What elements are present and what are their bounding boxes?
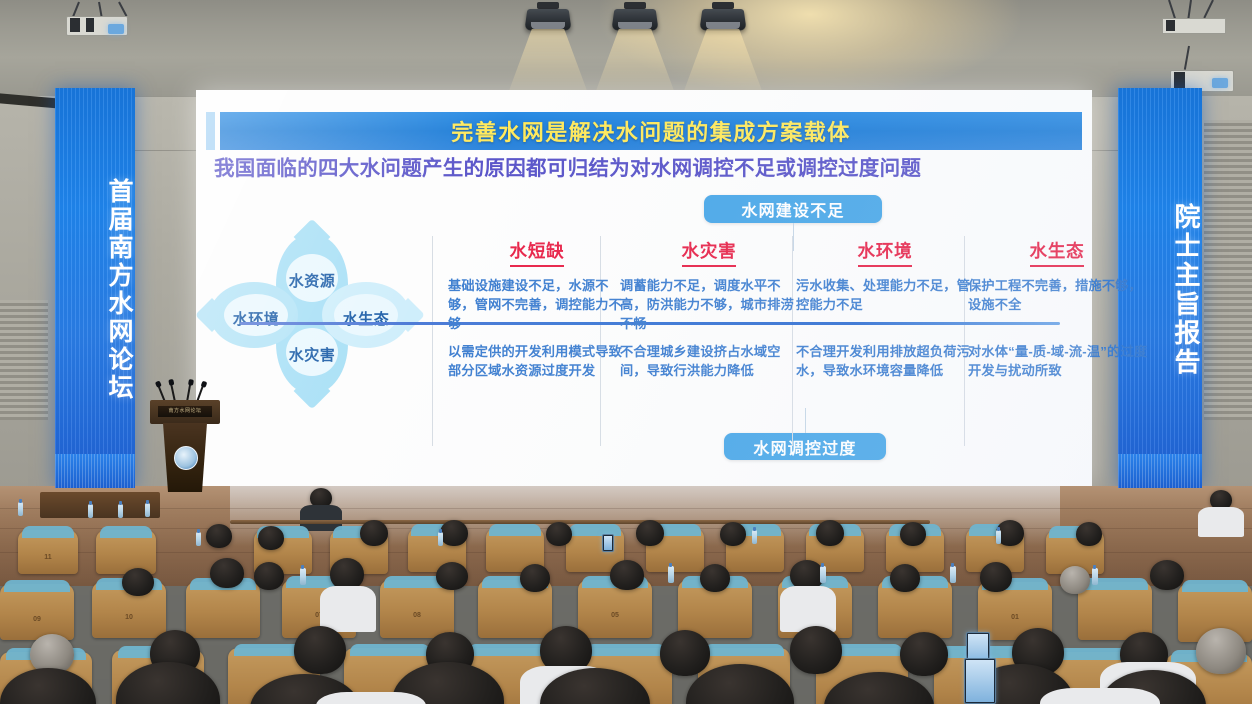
audience-head xyxy=(206,524,232,548)
water-bottle xyxy=(300,568,306,585)
audience-head xyxy=(790,626,842,674)
audience-torso xyxy=(780,586,836,632)
seat: 05 xyxy=(578,580,652,638)
seat: 09 xyxy=(0,584,74,640)
stage-spotlight xyxy=(700,2,746,32)
water-bottle xyxy=(668,566,674,583)
ceiling-truss-right xyxy=(1150,0,1250,46)
petal-label-water-resources: 水资源 xyxy=(288,270,336,291)
seat xyxy=(96,530,156,574)
audience-torso xyxy=(1040,688,1160,704)
column-water-shortage: 水短缺 基础设施建设不足，水源不够，管网不完善，调控能力不够 以需定供的开发利用… xyxy=(444,238,630,333)
audience-head xyxy=(294,626,346,674)
banner-right-text: 院士主旨报告 xyxy=(1118,110,1202,470)
slide-title-row: 完善水网是解决水问题的集成方案载体 xyxy=(206,112,1082,150)
column-water-disaster: 水灾害 调蓄能力不足，调度水平不高，防洪能力不够，城市排涝不畅 不合理城乡建设挤… xyxy=(616,238,802,333)
presentation-slide: 完善水网是解决水问题的集成方案载体 我国面临的四大水问题产生的原因都可归结为对水… xyxy=(196,90,1092,486)
column-separator xyxy=(432,236,433,446)
title-accent-bar xyxy=(206,112,215,150)
water-bottle xyxy=(996,530,1001,544)
stage-spotlight xyxy=(525,2,571,32)
audience-head xyxy=(900,522,926,546)
column-row2-text: 以需定供的开发利用模式导致部分区域水资源过度开发 xyxy=(444,342,638,380)
speaker-podium: 南方水网论坛 xyxy=(150,400,220,492)
badge-bottom-connector xyxy=(805,408,806,433)
audience-head xyxy=(816,520,844,546)
column-row1-text: 调蓄能力不足，调度水平不高，防洪能力不够，城市排涝不畅 xyxy=(616,276,802,333)
audience-head xyxy=(900,632,948,676)
audience-head xyxy=(660,630,710,676)
seat xyxy=(186,582,260,638)
column-row1-text: 污水收集、处理能力不足，管控能力不足 xyxy=(792,276,978,314)
audience-torso xyxy=(1198,507,1244,537)
petal-label-water-disaster: 水灾害 xyxy=(288,344,336,365)
audience-torso xyxy=(320,586,376,632)
water-bottle xyxy=(438,532,443,546)
badge-excessive-regulation: 水网调控过度 xyxy=(724,433,886,460)
audience-head xyxy=(546,522,572,546)
audience-head xyxy=(258,526,284,550)
smartphone xyxy=(964,658,996,704)
audience-head xyxy=(520,564,550,592)
water-bottle xyxy=(752,530,757,544)
smartphone xyxy=(602,534,614,552)
slide-subtitle: 我国面临的四大水问题产生的原因都可归结为对水网调控不足或调控过度问题 xyxy=(214,156,1062,182)
column-heading: 水短缺 xyxy=(510,238,565,267)
slide-title: 完善水网是解决水问题的集成方案载体 xyxy=(451,115,851,147)
audience-torso xyxy=(316,692,426,704)
water-bottle xyxy=(820,566,826,583)
badge-insufficient-regulation: 水网建设不足 xyxy=(704,195,882,223)
water-system-diagram: 水资源 水环境 水生态 水灾害 xyxy=(214,240,410,390)
seat: 08 xyxy=(380,580,454,638)
column-heading: 水环境 xyxy=(858,238,913,267)
audience-head xyxy=(360,520,388,546)
audience-head xyxy=(254,562,284,590)
wall-panel-left xyxy=(0,96,60,488)
column-row1-text: 基础设施建设不足，水源不够，管网不完善，调控能力不够 xyxy=(444,276,630,333)
water-bottle xyxy=(950,566,956,583)
audience-head xyxy=(980,562,1012,592)
column-heading: 水生态 xyxy=(1030,238,1085,267)
column-row2-text: 不合理开发利用排放超负荷污水，导致水环境容量降低 xyxy=(792,342,986,380)
audience-head xyxy=(610,560,644,590)
led-banner-left: 首届南方水网论坛 xyxy=(55,88,135,488)
audience-head xyxy=(1150,560,1184,590)
petal-label-water-ecology: 水生态 xyxy=(342,308,390,329)
audience-head xyxy=(720,522,746,546)
audience-head xyxy=(440,520,468,546)
seat: 11 xyxy=(18,530,78,574)
projection-screen: 完善水网是解决水问题的集成方案载体 我国面临的四大水问题产生的原因都可归结为对水… xyxy=(196,90,1092,486)
banner-left-text: 首届南方水网论坛 xyxy=(55,110,135,470)
slide-title-bar: 完善水网是解决水问题的集成方案载体 xyxy=(220,112,1082,150)
audience-head xyxy=(210,558,244,588)
column-heading: 水灾害 xyxy=(682,238,737,267)
audience-head xyxy=(890,564,920,592)
auditorium-scene: 首届南方水网论坛 院士主旨报告 完善水网是解决水问题的集成方案载体 我国面临的四… xyxy=(0,0,1252,704)
audience-area: 11 09 10 07 08 05 xyxy=(0,486,1252,704)
water-bottle xyxy=(1092,568,1098,585)
stage-spotlight xyxy=(612,2,658,32)
podium-nameplate: 南方水网论坛 xyxy=(158,406,212,417)
podium-emblem xyxy=(174,446,198,470)
audience-head xyxy=(122,568,154,596)
audience-head xyxy=(700,564,730,592)
column-row2-text: 不合理城乡建设挤占水域空间，导致行洪能力降低 xyxy=(616,342,810,380)
audience-head xyxy=(636,520,664,546)
audience-head xyxy=(1196,628,1246,674)
ceiling-projector-left xyxy=(44,2,154,46)
column-water-environment: 水环境 污水收集、处理能力不足，管控能力不足 不合理开发利用排放超负荷污水，导致… xyxy=(792,238,978,314)
audience-head xyxy=(436,562,468,590)
wall-grille-left xyxy=(0,300,48,420)
audience-head xyxy=(1060,566,1090,594)
audience-head xyxy=(1076,522,1102,546)
led-banner-right: 院士主旨报告 xyxy=(1118,88,1202,488)
wall-grille-right xyxy=(1204,120,1252,420)
petal-label-water-environment: 水环境 xyxy=(232,308,280,329)
water-bottle xyxy=(196,532,201,546)
